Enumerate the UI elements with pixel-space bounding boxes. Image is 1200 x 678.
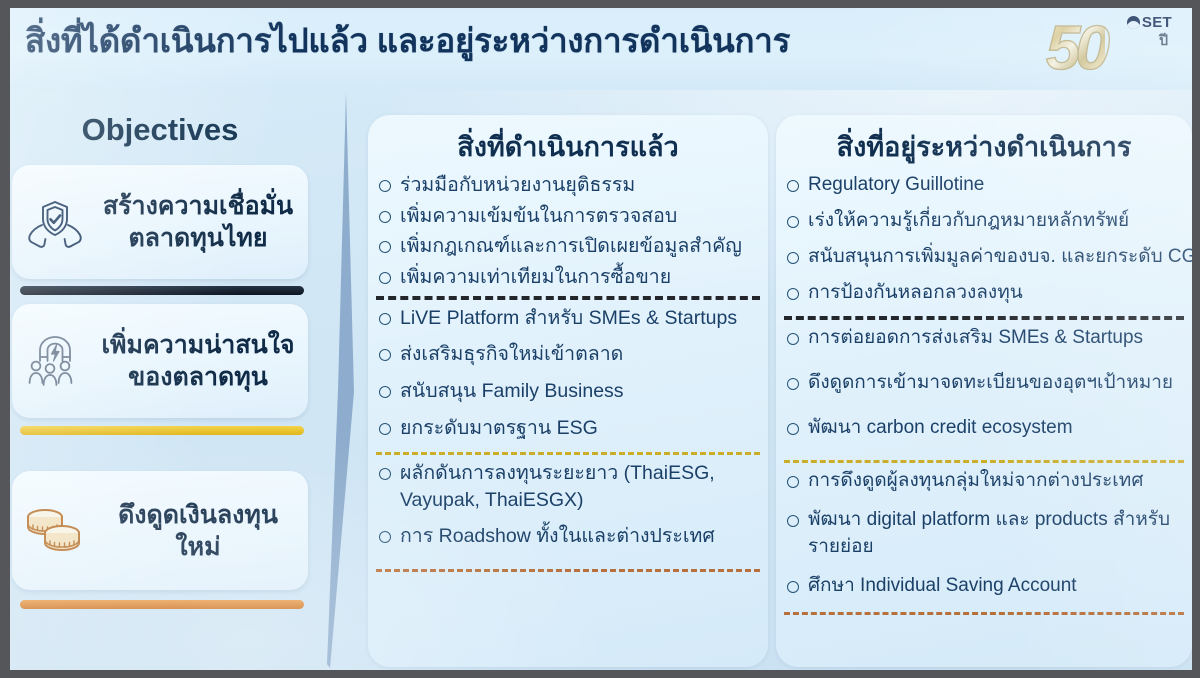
objective-divider-bar-orange — [20, 600, 304, 609]
group-separator-yellow-dashed — [376, 452, 760, 455]
objective-card-trust-label: สร้างความเชื่อมั่น ตลาดทุนไทย — [98, 190, 308, 254]
magnet-attracting-people-icon — [12, 333, 98, 389]
objective-label-line-2: ตลาดทุนไทย — [98, 222, 298, 254]
bullet-list: ร่วมมือกับหน่วยงานยุติธรรม เพิ่มความเข้ม… — [374, 172, 762, 292]
group-separator-yellow-dashed — [784, 460, 1184, 463]
set-brand-lockup: SET — [1127, 14, 1172, 31]
set-brand-text: SET — [1142, 14, 1172, 31]
objectives-column: Objectives — [10, 90, 316, 670]
list-item[interactable]: พัฒนา carbon credit ecosystem — [782, 415, 1186, 442]
objective-label-line-1: สร้างความเชื่อมั่น — [98, 190, 298, 222]
list-item[interactable]: เพิ่มความเข้มข้นในการตรวจสอบ — [374, 203, 762, 231]
set-circle-logo-icon — [1127, 16, 1140, 29]
group-separator-black-dashed — [784, 316, 1184, 320]
shield-check-in-hands-icon — [12, 194, 98, 250]
list-item[interactable]: ผลักดันการลงทุนระยะยาว (ThaiESG, Vayupak… — [374, 460, 762, 515]
objective-divider-bar-yellow — [20, 426, 304, 435]
panel-in-progress-group-2: การต่อยอดการส่งเสริม SMEs & Startups ดึง… — [782, 325, 1186, 442]
list-item[interactable]: การป้องกันหลอกลวงลงทุน — [782, 280, 1186, 307]
panel-completed: สิ่งที่ดำเนินการแล้ว ร่วมมือกับหน่วยงานย… — [368, 115, 768, 667]
bullet-list: Regulatory Guillotine เร่งให้ความรู้เกี่… — [782, 172, 1186, 307]
list-item[interactable]: ดึงดูดการเข้ามาจดทะเบียนของอุตฯเป้าหมาย — [782, 370, 1186, 397]
slide-body: Objectives — [10, 90, 1192, 670]
bullet-list: การต่อยอดการส่งเสริม SMEs & Startups ดึง… — [782, 325, 1186, 442]
objective-label-line-1: เพิ่มความน่าสนใจ — [98, 329, 298, 361]
list-item[interactable]: การต่อยอดการส่งเสริม SMEs & Startups — [782, 325, 1186, 352]
presentation-slide: สิ่งที่ได้ดำเนินการไปแล้ว และอยู่ระหว่าง… — [10, 8, 1192, 670]
group-separator-black-dashed — [376, 296, 760, 300]
set-50th-anniversary-logo: 50 SET ปี — [1046, 10, 1174, 84]
objective-card-new-investment[interactable]: ดึงดูดเงินลงทุนใหม่ — [12, 471, 308, 590]
lens-shape-divider-icon — [322, 92, 362, 668]
panel-completed-title: สิ่งที่ดำเนินการแล้ว — [374, 125, 762, 168]
bullet-list: ผลักดันการลงทุนระยะยาว (ThaiESG, Vayupak… — [374, 460, 762, 551]
logo-year-suffix: ปี — [1159, 30, 1168, 52]
list-item[interactable]: Regulatory Guillotine — [782, 172, 1186, 199]
bullet-list: LiVE Platform สำหรับ SMEs & Startups ส่ง… — [374, 305, 762, 443]
panel-completed-group-3: ผลักดันการลงทุนระยะยาว (ThaiESG, Vayupak… — [374, 460, 762, 551]
list-item[interactable]: ร่วมมือกับหน่วยงานยุติธรรม — [374, 172, 762, 200]
objectives-heading: Objectives — [10, 112, 310, 148]
objective-label-line-1: ดึงดูดเงินลงทุนใหม่ — [98, 499, 298, 563]
panel-completed-group-1: ร่วมมือกับหน่วยงานยุติธรรม เพิ่มความเข้ม… — [374, 172, 762, 292]
objective-card-trust[interactable]: สร้างความเชื่อมั่น ตลาดทุนไทย — [12, 165, 308, 279]
page-title: สิ่งที่ได้ดำเนินการไปแล้ว และอยู่ระหว่าง… — [25, 14, 790, 67]
panel-in-progress-group-3: การดึงดูดผู้ลงทุนกลุ่มใหม่จากต่างประเทศ … — [782, 468, 1186, 600]
list-item[interactable]: ศึกษา Individual Saving Account — [782, 573, 1186, 600]
gold-coins-stack-icon — [12, 504, 98, 558]
list-item[interactable]: การ Roadshow ทั้งในและต่างประเทศ — [374, 523, 762, 551]
panel-in-progress-title: สิ่งที่อยู่ระหว่างดำเนินการ — [782, 125, 1186, 168]
list-item[interactable]: สนับสนุนการเพิ่มมูลค่าของบจ. และยกระดับ … — [782, 244, 1186, 271]
group-separator-orange-dashed — [784, 612, 1184, 615]
bullet-list: การดึงดูดผู้ลงทุนกลุ่มใหม่จากต่างประเทศ … — [782, 468, 1186, 600]
list-item[interactable]: พัฒนา digital platform และ products สำหร… — [782, 507, 1186, 561]
list-item[interactable]: ยกระดับมาตรฐาน ESG — [374, 415, 762, 443]
slide-header: สิ่งที่ได้ดำเนินการไปแล้ว และอยู่ระหว่าง… — [10, 8, 1192, 90]
objective-card-new-investment-label: ดึงดูดเงินลงทุนใหม่ — [98, 499, 308, 563]
objective-card-attractiveness[interactable]: เพิ่มความน่าสนใจ ของตลาดทุน — [12, 304, 308, 418]
list-item[interactable]: ส่งเสริมธุรกิจใหม่เข้าตลาด — [374, 341, 762, 369]
list-item[interactable]: เร่งให้ความรู้เกี่ยวกับกฎหมายหลักทรัพย์ — [782, 208, 1186, 235]
panel-in-progress-group-1: Regulatory Guillotine เร่งให้ความรู้เกี่… — [782, 172, 1186, 307]
list-item[interactable]: LiVE Platform สำหรับ SMEs & Startups — [374, 305, 762, 333]
logo-number-50: 50 — [1046, 18, 1105, 80]
list-item[interactable]: สนับสนุน Family Business — [374, 378, 762, 406]
list-item[interactable]: การดึงดูดผู้ลงทุนกลุ่มใหม่จากต่างประเทศ — [782, 468, 1186, 495]
objective-label-line-2: ของตลาดทุน — [98, 361, 298, 393]
list-item[interactable]: เพิ่มความเท่าเทียมในการซื้อขาย — [374, 264, 762, 292]
screenshot-frame: สิ่งที่ได้ดำเนินการไปแล้ว และอยู่ระหว่าง… — [0, 0, 1200, 678]
objective-card-attractiveness-label: เพิ่มความน่าสนใจ ของตลาดทุน — [98, 329, 308, 393]
group-separator-orange-dashed — [376, 569, 760, 572]
panel-completed-group-2: LiVE Platform สำหรับ SMEs & Startups ส่ง… — [374, 305, 762, 443]
list-item[interactable]: เพิ่มกฎเกณฑ์และการเปิดเผยข้อมูลสำคัญ — [374, 233, 762, 261]
objective-divider-bar-black — [20, 286, 304, 295]
panel-in-progress: สิ่งที่อยู่ระหว่างดำเนินการ Regulatory G… — [776, 115, 1192, 667]
